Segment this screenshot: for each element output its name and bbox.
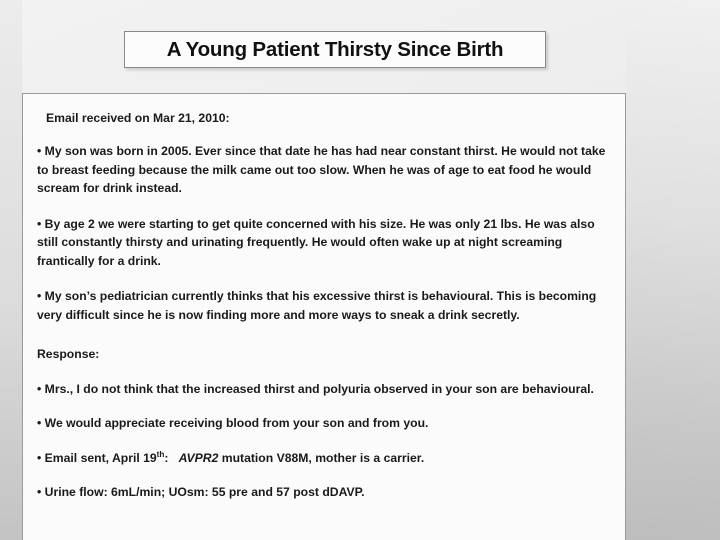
paragraph-birth-history-text: My son was born in 2005. Ever since that… [37, 144, 605, 195]
gene-name: AVPR2 [179, 451, 219, 465]
slide-canvas: A Young Patient Thirsty Since Birth Emai… [0, 0, 720, 540]
response-label: Response: [37, 345, 609, 364]
slide-title-box: A Young Patient Thirsty Since Birth [124, 31, 546, 68]
paragraph-birth-history: • My son was born in 2005. Ever since th… [37, 142, 609, 198]
bullet-icon: • [37, 416, 41, 430]
response-urine-findings-text: Urine flow: 6mL/min; UOsm: 55 pre and 57… [45, 485, 365, 499]
email-sent-colon: : [164, 451, 168, 465]
right-margin-band [626, 0, 720, 540]
paragraph-pediatrician-text: My son’s pediatrician currently thinks t… [37, 289, 596, 322]
bullet-icon: • [37, 382, 41, 396]
response-not-behavioural: • Mrs., I do not think that the increase… [37, 380, 609, 399]
left-margin-band [0, 0, 22, 540]
response-blood-request-text: We would appreciate receiving blood from… [45, 416, 429, 430]
response-blood-request: • We would appreciate receiving blood fr… [37, 414, 609, 433]
bullet-icon: • [37, 289, 41, 303]
paragraph-age-two-text: By age 2 we were starting to get quite c… [37, 217, 595, 268]
page-title: A Young Patient Thirsty Since Birth [167, 38, 504, 62]
response-urine-findings: • Urine flow: 6mL/min; UOsm: 55 pre and … [37, 483, 609, 502]
email-content-panel: Email received on Mar 21, 2010: • My son… [22, 93, 626, 540]
bullet-icon: • [37, 217, 41, 231]
mutation-detail: mutation V88M, mother is a carrier. [218, 451, 424, 465]
paragraph-pediatrician: • My son’s pediatrician currently thinks… [37, 287, 609, 324]
bullet-icon: • [37, 451, 41, 465]
bullet-icon: • [37, 144, 41, 158]
response-genetic-result: • Email sent, April 19th: AVPR2 mutation… [37, 449, 609, 468]
bullet-icon: • [37, 485, 41, 499]
email-received-header: Email received on Mar 21, 2010: [46, 111, 609, 125]
email-sent-prefix: Email sent, April 19 [45, 451, 157, 465]
response-not-behavioural-text: Mrs., I do not think that the increased … [45, 382, 594, 396]
paragraph-age-two: • By age 2 we were starting to get quite… [37, 215, 609, 271]
